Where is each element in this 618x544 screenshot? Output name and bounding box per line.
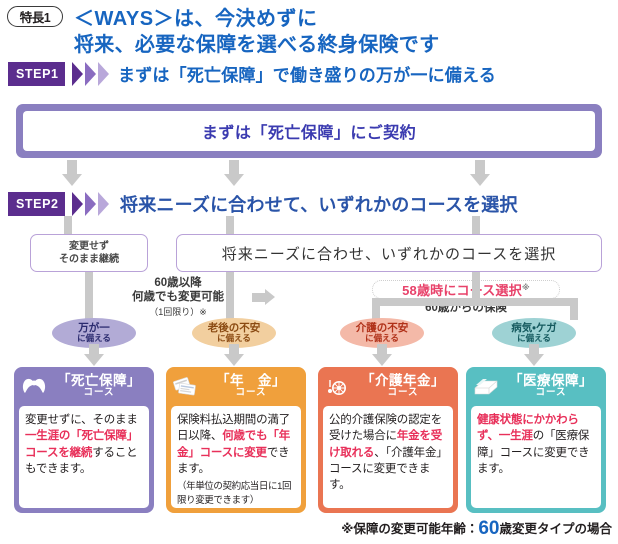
oval-nursing-line2: に備える [365,334,399,343]
course-card-medical-title: 「医療保障」 [501,374,601,388]
wheelchair-icon [323,372,353,400]
course-card-death-subtitle: コース [49,388,149,398]
course-card-pension-header: 「年 金」 コース [167,368,305,403]
connector-line-mid [226,216,234,236]
step2-chevron-1-icon [72,192,83,216]
bed-icon [471,372,501,400]
course-card-pension-note: （年単位の契約応当日に1回限り変更できます） [177,480,295,507]
course-card-nursing-header: 「介護年金」 コース [319,368,457,403]
contract-panel: まずは「死亡保障」にご契約 [16,104,602,158]
select-course-box: 将来ニーズに合わせ、いずれかのコースを選択 [176,234,602,272]
course-card-pension-title-group: 「年 金」 コース [201,374,305,398]
course-card-pension-subtitle: コース [201,388,301,398]
footnote: ※保障の変更可能年齢：60歳変更タイプの場合 [300,518,612,540]
step1-chevron-3-icon [98,62,109,86]
footnote-post: 歳変更タイプの場合 [499,522,612,536]
continue-box-line2: そのまま継続 [59,254,119,265]
bankbook-icon [171,372,201,400]
course-card-nursing-subtitle: コース [353,388,453,398]
footnote-number: 60 [478,518,499,539]
step2-title: 将来ニーズに合わせて、いずれかのコースを選択 [120,191,518,217]
connector-line-right [472,216,480,236]
course-card-nursing-title: 「介護年金」 [353,374,453,388]
header-line-2: 将来、必要な保障を選べる終身保険です [74,28,439,57]
header: 特長1 ＜WAYS＞は、今決めずに 将来、必要な保障を選べる終身保険です [0,0,618,58]
bracket-left-leg [372,298,380,320]
connector-line-left [64,216,72,236]
right-arrow-shaft [252,293,266,302]
contract-panel-text: まずは「死亡保障」にご契約 [23,111,595,151]
age60-line1: 60歳以降 [154,277,201,289]
bracket-right-leg [570,298,578,320]
course-card-nursing[interactable]: 「介護年金」 コース 公的介護保険の認定を受けた場合に年金を受け取れる、「介護年… [318,367,458,513]
course-card-medical-subtitle: コース [501,388,601,398]
course-card-death-body: 変更せずに、そのまま一生涯の「死亡保障」コースを継続することもできます。 [19,406,149,508]
continue-box: 変更せず そのまま継続 [30,234,148,272]
continue-box-line1: 変更せず [69,241,109,252]
course-card-death-title-group: 「死亡保障」 コース [49,374,153,398]
connector-line-continue [85,272,93,320]
course-card-death-title: 「死亡保障」 [49,374,149,388]
age58-text: 58歳時にコース選択 [402,283,522,298]
oval-retirement-line2: に備える [217,334,251,343]
course-card-medical-body: 健康状態にかかわらず、一生涯の「医療保障」コースに変更できます。 [471,406,601,508]
step1-title: まずは「死亡保障」で働き盛りの万が一に備える [118,61,496,86]
course-card-medical-title-group: 「医療保障」 コース [501,374,605,398]
age60-line3: （1回限り）※ [149,307,207,317]
step1-tag: STEP1 [8,62,65,86]
bracket-horizontal [372,298,578,306]
course-card-death-header: 「死亡保障」 コース [15,368,153,403]
course-card-medical-header: 「医療保障」 コース [467,368,605,403]
step2-chevron-3-icon [98,192,109,216]
oval-medical-line2: に備える [517,334,551,343]
course-card-nursing-title-group: 「介護年金」 コース [353,374,457,398]
course-card-nursing-body: 公的介護保険の認定を受けた場合に年金を受け取れる、「介護年金」コースに変更できま… [323,406,453,508]
oval-emergency-line2: に備える [77,334,111,343]
course-card-pension[interactable]: 「年 金」 コース 保険料払込期間の満了日以降、何歳でも「年金」コースに変更でき… [166,367,306,513]
header-line-1: ＜WAYS＞は、今決めずに [74,2,318,31]
course-card-pension-title: 「年 金」 [201,374,301,388]
age58-asterisk: ※ [522,283,530,292]
course-card-medical[interactable]: 「医療保障」 コース 健康状態にかかわらず、一生涯の「医療保障」コースに変更でき… [466,367,606,513]
step1-chevron-2-icon [85,62,96,86]
course-card-death[interactable]: 「死亡保障」 コース 変更せずに、そのまま一生涯の「死亡保障」コースを継続するこ… [14,367,154,513]
down-arrow-medical-icon [522,344,546,366]
course-card-pension-body: 保険料払込期間の満了日以降、何歳でも「年金」コースに変更できます。 （年単位の契… [171,406,301,508]
down-arrow-2-icon [222,160,246,186]
step2-chevron-2-icon [85,192,96,216]
age58-annotation: 58歳時にコース選択※ [366,283,566,299]
down-arrow-pension-icon [222,344,246,366]
angel-wings-icon [19,372,49,400]
step2-tag: STEP2 [8,192,65,216]
down-arrow-1-icon [60,160,84,186]
connector-line-pension [226,272,234,320]
age60-line2: 何歳でも変更可能 [132,291,224,303]
course-card-death-text-pre: 変更せずに、そのまま [25,414,138,426]
right-arrow-head-icon [265,289,275,305]
feature-badge: 特長1 [7,6,63,27]
down-arrow-nursing-icon [370,344,394,366]
connector-line-right-top [472,272,480,300]
footnote-pre: ※保障の変更可能年齢： [341,522,478,536]
down-arrow-3-icon [468,160,492,186]
step1-chevron-1-icon [72,62,83,86]
down-arrow-death-icon [82,344,106,366]
